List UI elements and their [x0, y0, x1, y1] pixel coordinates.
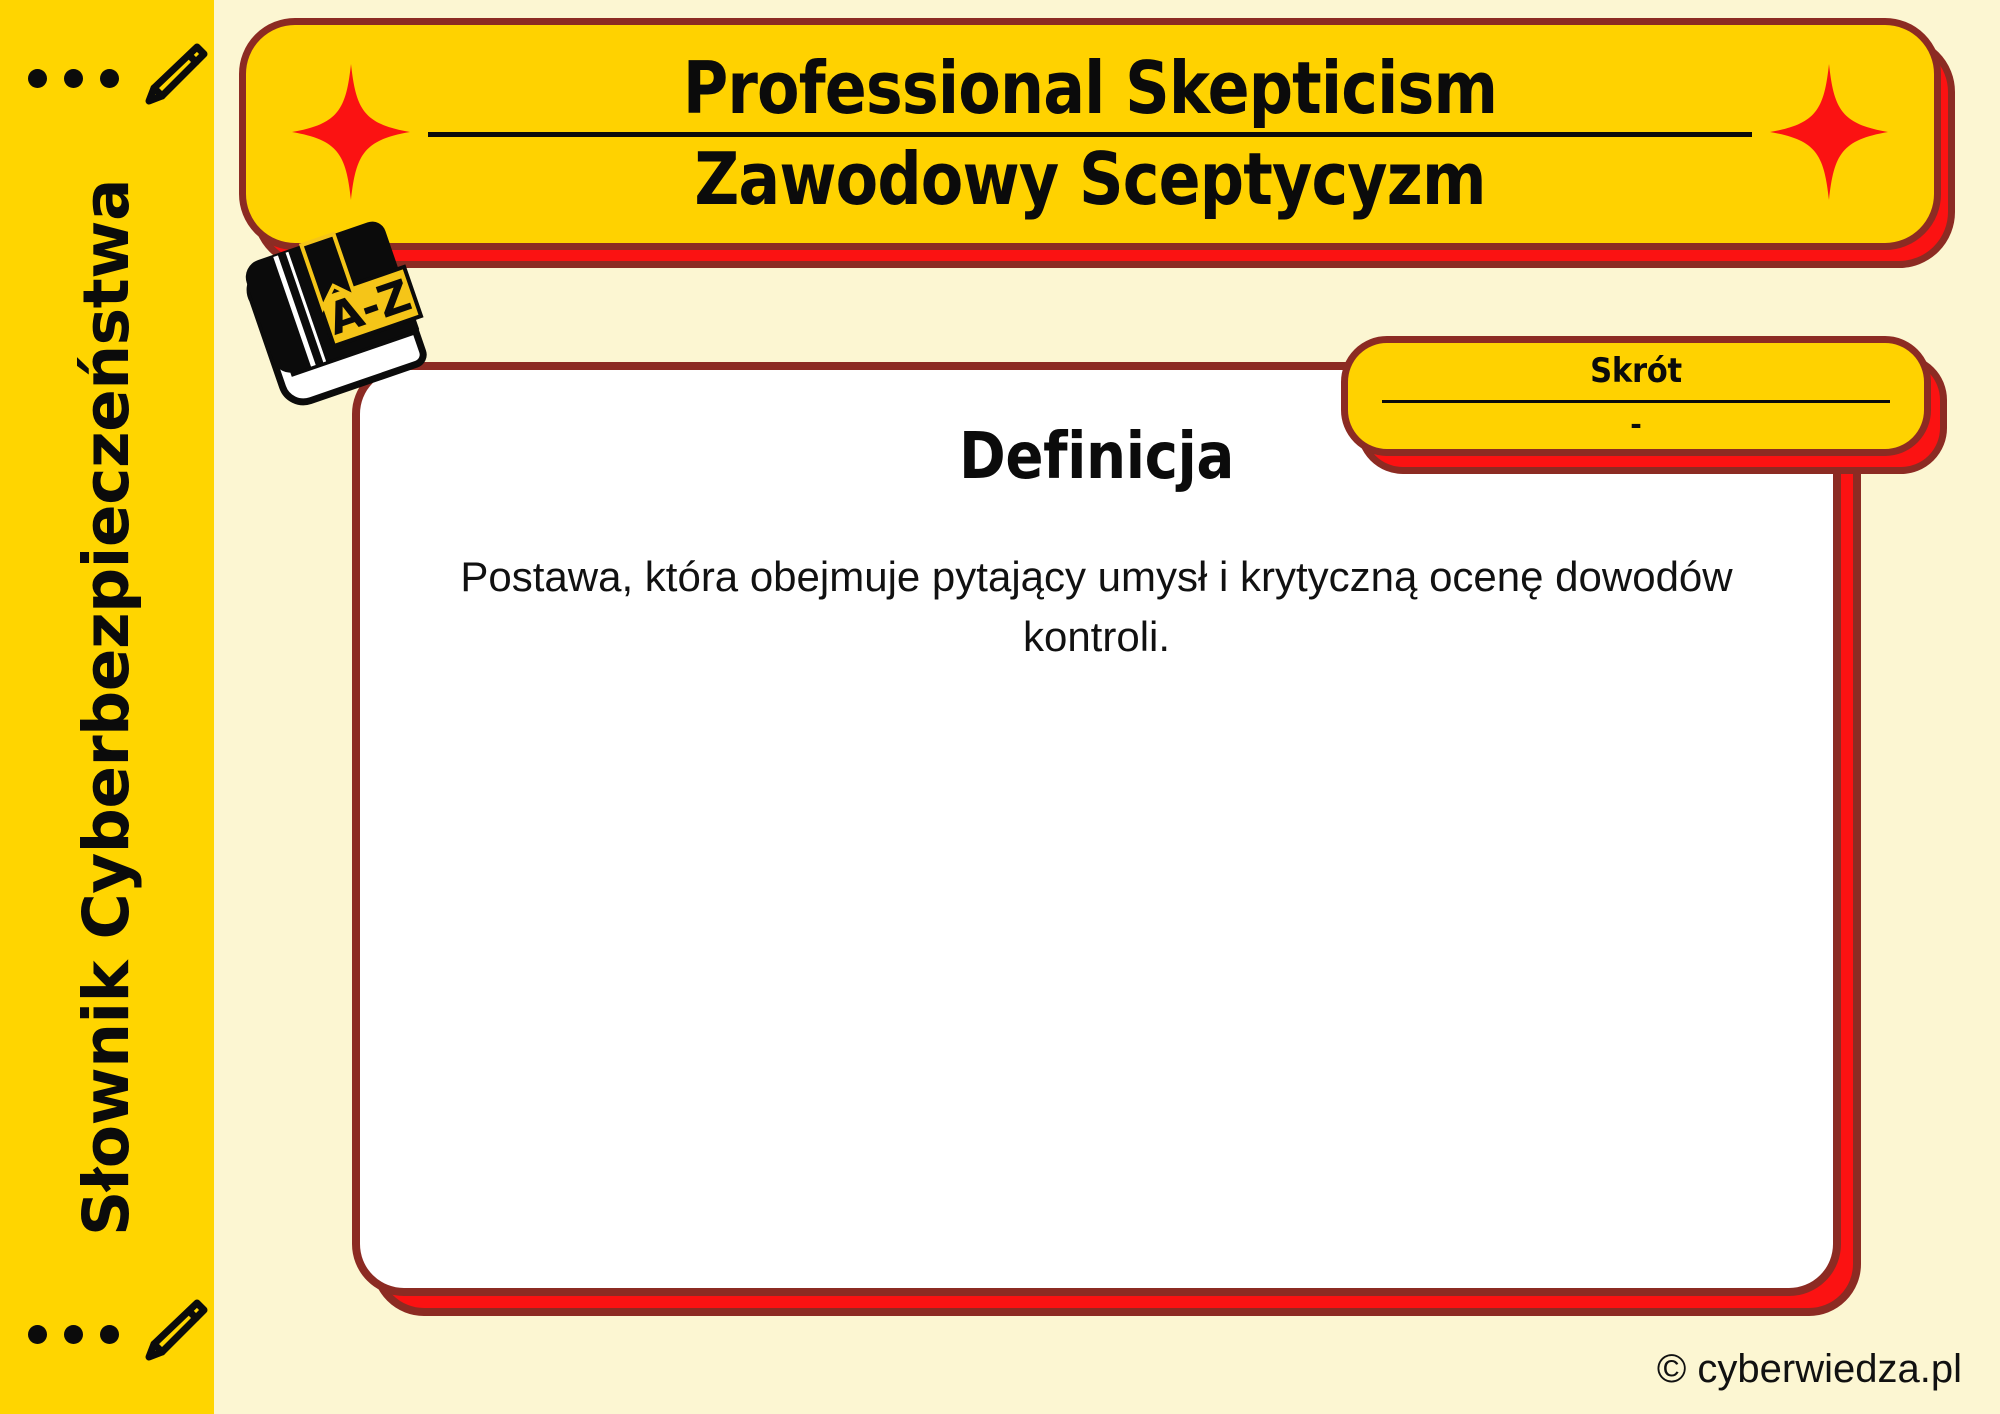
definition-text: Postawa, która obejmuje pytający umysł i…: [452, 547, 1742, 666]
header-banner: Professional Skepticism Zawodowy Sceptyc…: [239, 18, 1941, 250]
copyright-credit: © cyberwiedza.pl: [1657, 1347, 1962, 1392]
skrot-divider: [1382, 400, 1890, 403]
pencil-icon: [135, 1295, 209, 1374]
sidebar: Słownik Cyberbezpieczeństwa: [0, 0, 214, 1414]
definition-card: Definicja Postawa, która obejmuje pytają…: [352, 362, 1841, 1296]
glossary-card-page: Słownik Cyberbezpieczeństwa: [0, 0, 2000, 1414]
skrot-badge: Skrót -: [1341, 336, 1931, 456]
sidebar-bottom-decoration: [0, 1270, 214, 1400]
sparkle-icon: [1768, 62, 1890, 207]
skrot-label: Skrót: [1407, 351, 1864, 391]
sidebar-title-container: Słownik Cyberbezpieczeństwa: [0, 0, 214, 1414]
az-dictionary-book-icon: A-Z: [228, 208, 443, 423]
title-polish: Zawodowy Sceptycyzm: [516, 143, 1665, 216]
skrot-value: -: [1382, 407, 1890, 441]
title-english: Professional Skepticism: [516, 52, 1665, 125]
header-titles: Professional Skepticism Zawodowy Sceptyc…: [412, 52, 1768, 217]
sidebar-title: Słownik Cyberbezpieczeństwa: [71, 178, 144, 1235]
sparkle-icon: [290, 62, 412, 207]
ellipsis-dots-icon: [28, 1325, 119, 1344]
